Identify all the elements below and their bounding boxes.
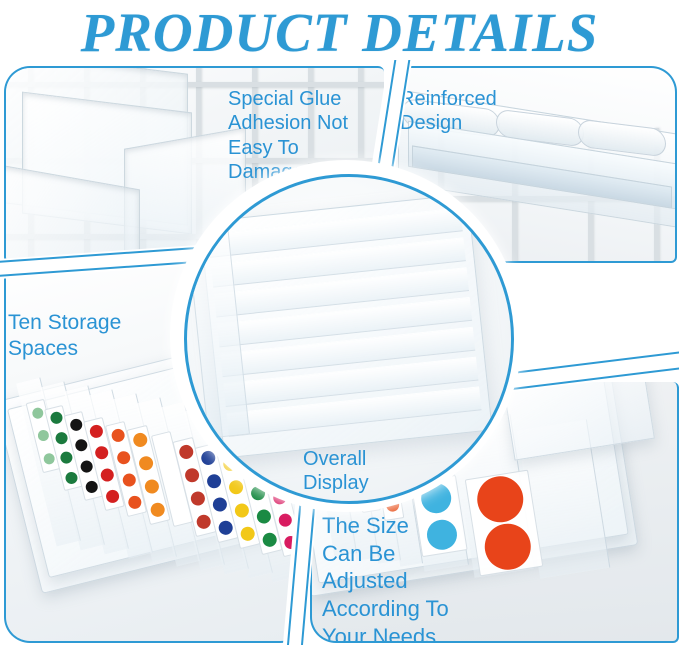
- page-title: PRODUCT DETAILS: [0, 0, 679, 64]
- callout-adjustable-size: The Size Can Be Adjusted According To Yo…: [322, 512, 449, 643]
- infographic-canvas: PRODUCT DETAILS: [0, 0, 679, 645]
- callout-reinforced-design: Reinforced Design: [400, 87, 497, 136]
- callout-overall-display: Overall Display: [303, 447, 369, 496]
- callout-ten-storage: Ten Storage Spaces: [8, 310, 121, 361]
